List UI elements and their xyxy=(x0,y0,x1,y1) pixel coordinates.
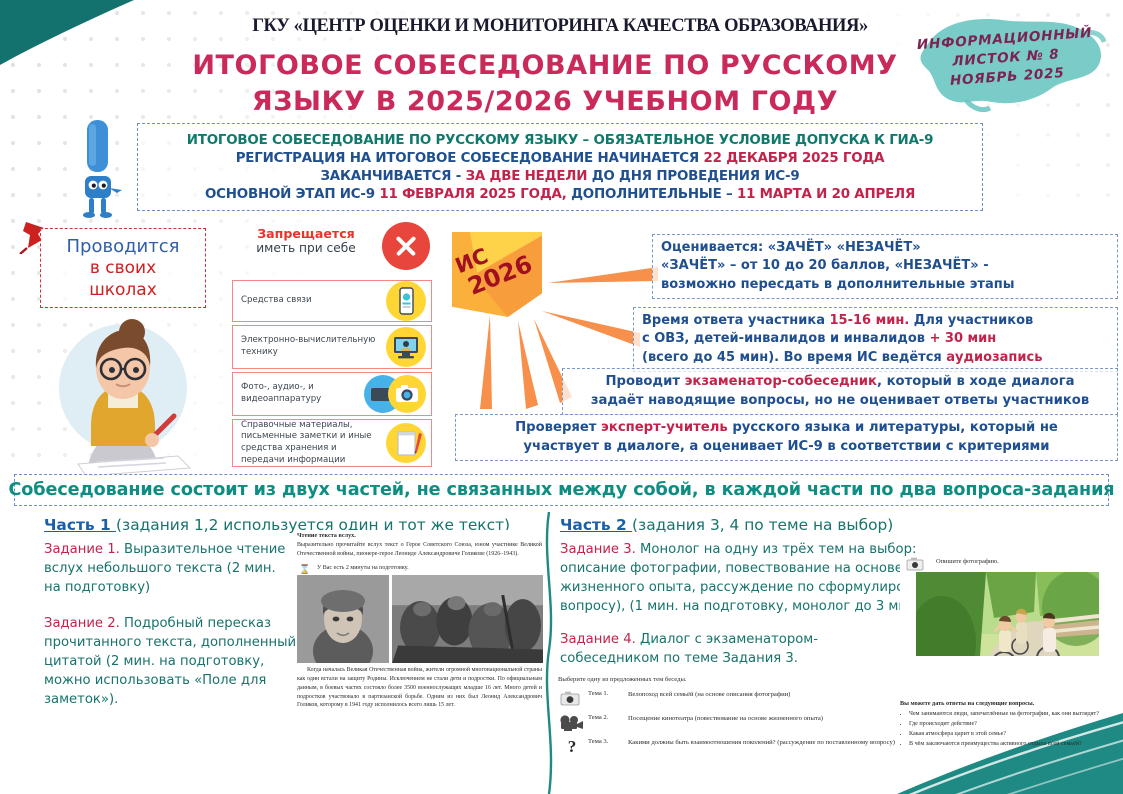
page-title-line-1: ИТОГОВОЕ СОБЕСЕДОВАНИЕ ПО РУССКОМУ xyxy=(150,48,940,84)
doc1-body: Когда началась Великая Отечественная вой… xyxy=(297,666,542,710)
examiner-line-1: Проводит экзаменатор-собеседник, который… xyxy=(571,373,1109,392)
camera-icon xyxy=(556,690,588,708)
prohibited-item-row: Средства связи xyxy=(232,280,432,322)
questions-heading: Вы можете дать ответы на следующие вопро… xyxy=(900,700,1116,707)
part2-task4: Задание 4. Диалог с экзаменатором-собесе… xyxy=(560,630,890,668)
question-item: Чем занимаются люди, запечатлённые на фо… xyxy=(909,710,1116,719)
timing-line-3: (всего до 45 мин). Во время ИС ведётся а… xyxy=(642,349,1109,367)
topic-row: ? Тема 3. Какими должны быть взаимоотнош… xyxy=(556,738,906,756)
question-mark-icon: ? xyxy=(556,738,588,756)
prohibited-items-panel: Запрещается иметь при себе Средства связ… xyxy=(232,226,432,466)
part2-heading-underline: Часть 2 xyxy=(560,516,632,534)
topic-text: Посещение кинотеатра (повествование на о… xyxy=(628,714,906,723)
poster-root: ГКУ «ЦЕНТР ОЦЕНКИ И МОНИТОРИНГА КАЧЕСТВА… xyxy=(0,0,1123,794)
smartphone-icon xyxy=(386,281,426,321)
doc1-hint: ⌛ У Вас есть 2 минуты на подготовку. xyxy=(317,565,545,571)
timing-line-1: Время ответа участника 15-16 мин. Для уч… xyxy=(642,312,1109,330)
questions-list: Чем занимаются люди, запечатлённые на фо… xyxy=(900,710,1116,750)
part1-task2-label: Задание 2. xyxy=(44,616,120,631)
conducted-at-school-box: Проводится в своих школах xyxy=(40,228,206,308)
hourglass-icon: ⌛ xyxy=(299,564,310,575)
topic-row: Тема 2. Посещение кинотеатра (повествова… xyxy=(556,714,906,732)
key-line-4: ОСНОВНОЙ ЭТАП ИС-9 11 ФЕВРАЛЯ 2025 ГОДА,… xyxy=(205,187,915,202)
conducted-line-3: школах xyxy=(89,280,157,302)
expert-info-box: Проверяет эксперт-учитель русского языка… xyxy=(455,414,1118,461)
student-writing-illustration xyxy=(28,316,218,476)
computer-icon xyxy=(386,327,426,367)
part2-photo-document: Опишите фотографию. xyxy=(900,556,1116,656)
question-item: В чём заключаются преимущества активного… xyxy=(909,740,1116,749)
notepad-pencil-icon xyxy=(386,423,426,463)
question-item: Какая атмосфера царит в этой семье? xyxy=(909,730,1116,739)
part1-scanned-document: Чтение текста вслух. Выразительно прочит… xyxy=(295,530,545,720)
grading-line-1: Оценивается: «ЗАЧЁТ» «НЕЗАЧЁТ» xyxy=(661,239,1109,257)
part2-heading-rest: (задания 3, 4 по теме на выбор) xyxy=(632,516,893,534)
topic-number: Тема 1. xyxy=(588,690,628,697)
cross-x-icon xyxy=(382,222,430,270)
prohibited-item-label: Средства связи xyxy=(233,291,386,311)
prohibited-item-label: Фото-, аудио-, и видеоаппаратуру xyxy=(233,378,361,409)
key-info-box: ИТОГОВОЕ СОБЕСЕДОВАНИЕ ПО РУССКОМУ ЯЗЫКУ… xyxy=(137,123,983,211)
timing-info-box: Время ответа участника 15-16 мин. Для уч… xyxy=(633,307,1118,372)
camera-icon xyxy=(904,556,928,572)
topic-number: Тема 3. xyxy=(588,738,628,745)
page-title: ИТОГОВОЕ СОБЕСЕДОВАНИЕ ПО РУССКОМУ ЯЗЫКУ… xyxy=(150,48,940,120)
prohibited-item-row: Справочные материалы, письменные заметки… xyxy=(232,419,432,467)
prohibited-heading-red: Запрещается xyxy=(242,226,370,241)
part2-heading: Часть 2 (задания 3, 4 по теме на выбор) xyxy=(560,516,893,534)
organization-title: ГКУ «ЦЕНТР ОЦЕНКИ И МОНИТОРИНГА КАЧЕСТВА… xyxy=(180,16,940,37)
page-title-line-2: ЯЗЫКУ В 2025/2026 УЧЕБНОМ ГОДУ xyxy=(150,84,940,120)
prohibited-item-row: Электронно-вычислительную технику xyxy=(232,325,432,369)
part1-task1-label: Задание 1. xyxy=(44,542,120,557)
topic-text: Велопоход всей семьёй (на основе описани… xyxy=(628,690,906,699)
key-line-3: ЗАКАНЧИВАЕТСЯ - ЗА ДВЕ НЕДЕЛИ ДО ДНЯ ПРО… xyxy=(320,169,799,184)
film-camera-icon xyxy=(556,714,588,732)
doc1-heading: Чтение текста вслух. xyxy=(297,532,545,539)
examiner-info-box: Проводит экзаменатор-собеседник, который… xyxy=(562,368,1118,415)
prohibited-item-row: Фото-, аудио-, и видеоаппаратуру xyxy=(232,372,432,416)
doc1-photos xyxy=(297,575,543,663)
expert-line-1: Проверяет эксперт-учитель русского языка… xyxy=(464,419,1109,438)
part1-task1: Задание 1. Выразительное чтение вслух не… xyxy=(44,540,296,597)
part1-task2: Задание 2. Подробный пересказ прочитанно… xyxy=(44,614,306,709)
grading-line-2: «ЗАЧЁТ» – от 10 до 20 баллов, «НЕЗАЧЁТ» … xyxy=(661,257,1109,275)
soldiers-photo xyxy=(392,575,543,663)
key-line-2: РЕГИСТРАЦИЯ НА ИТОГОВОЕ СОБЕСЕДОВАНИЕ НА… xyxy=(236,151,885,166)
prohibited-heading-dark: иметь при себе xyxy=(242,241,370,256)
examiner-line-2: задаёт наводящие вопросы, но не оценивае… xyxy=(571,392,1109,411)
conducted-line-1: Проводится xyxy=(67,235,180,258)
topic-row: Тема 1. Велопоход всей семьёй (на основе… xyxy=(556,690,906,708)
grading-info-box: Оценивается: «ЗАЧЁТ» «НЕЗАЧЁТ» «ЗАЧЁТ» –… xyxy=(652,234,1118,299)
photo-caption: Опишите фотографию. xyxy=(936,558,1116,565)
prohibited-item-label: Справочные материалы, письменные заметки… xyxy=(233,416,386,470)
key-line-1: ИТОГОВОЕ СОБЕСЕДОВАНИЕ ПО РУССКОМУ ЯЗЫКУ… xyxy=(187,133,933,148)
camera-icon xyxy=(361,374,427,414)
prohibited-heading: Запрещается иметь при себе xyxy=(242,226,370,256)
family-bicycle-photo xyxy=(916,572,1099,656)
expert-line-2: участвует в диалоге, а оценивает ИС-9 в … xyxy=(464,438,1109,457)
portrait-photo xyxy=(297,575,389,663)
exclamation-mark-mascot-icon xyxy=(72,118,124,218)
doc1-paragraph: Выразительно прочитайте вслух текст о Ге… xyxy=(297,541,542,559)
doc1-hint-text: У Вас есть 2 минуты на подготовку. xyxy=(317,565,409,571)
topic-text: Какими должны быть взаимоотношения покол… xyxy=(628,738,906,747)
photo-questions-block: Вы можете дать ответы на следующие вопро… xyxy=(900,700,1116,762)
part2-topics-document: Выберите одну из предложенных тем беседы… xyxy=(556,672,906,788)
is-2026-starburst: ИС 2026 xyxy=(452,232,542,317)
grading-line-3: возможно пересдать в дополнительные этап… xyxy=(661,276,1109,294)
doc2-instruction: Выберите одну из предложенных тем беседы… xyxy=(558,676,906,683)
prohibited-item-label: Электронно-вычислительную технику xyxy=(233,331,386,362)
part1-heading-underline: Часть 1 xyxy=(44,516,116,534)
question-item: Где происходит действие? xyxy=(909,720,1116,729)
topic-number: Тема 2. xyxy=(588,714,628,721)
part2-task3-label: Задание 3. xyxy=(560,542,636,557)
part2-task4-label: Задание 4. xyxy=(560,632,636,647)
structure-banner: Собеседование состоит из двух частей, не… xyxy=(14,474,1109,506)
timing-line-2: с ОВЗ, детей-инвалидов и инвалидов + 30 … xyxy=(642,330,1109,348)
structure-banner-text: Собеседование состоит из двух частей, не… xyxy=(9,480,1115,500)
conducted-line-2: в своих xyxy=(90,258,156,280)
